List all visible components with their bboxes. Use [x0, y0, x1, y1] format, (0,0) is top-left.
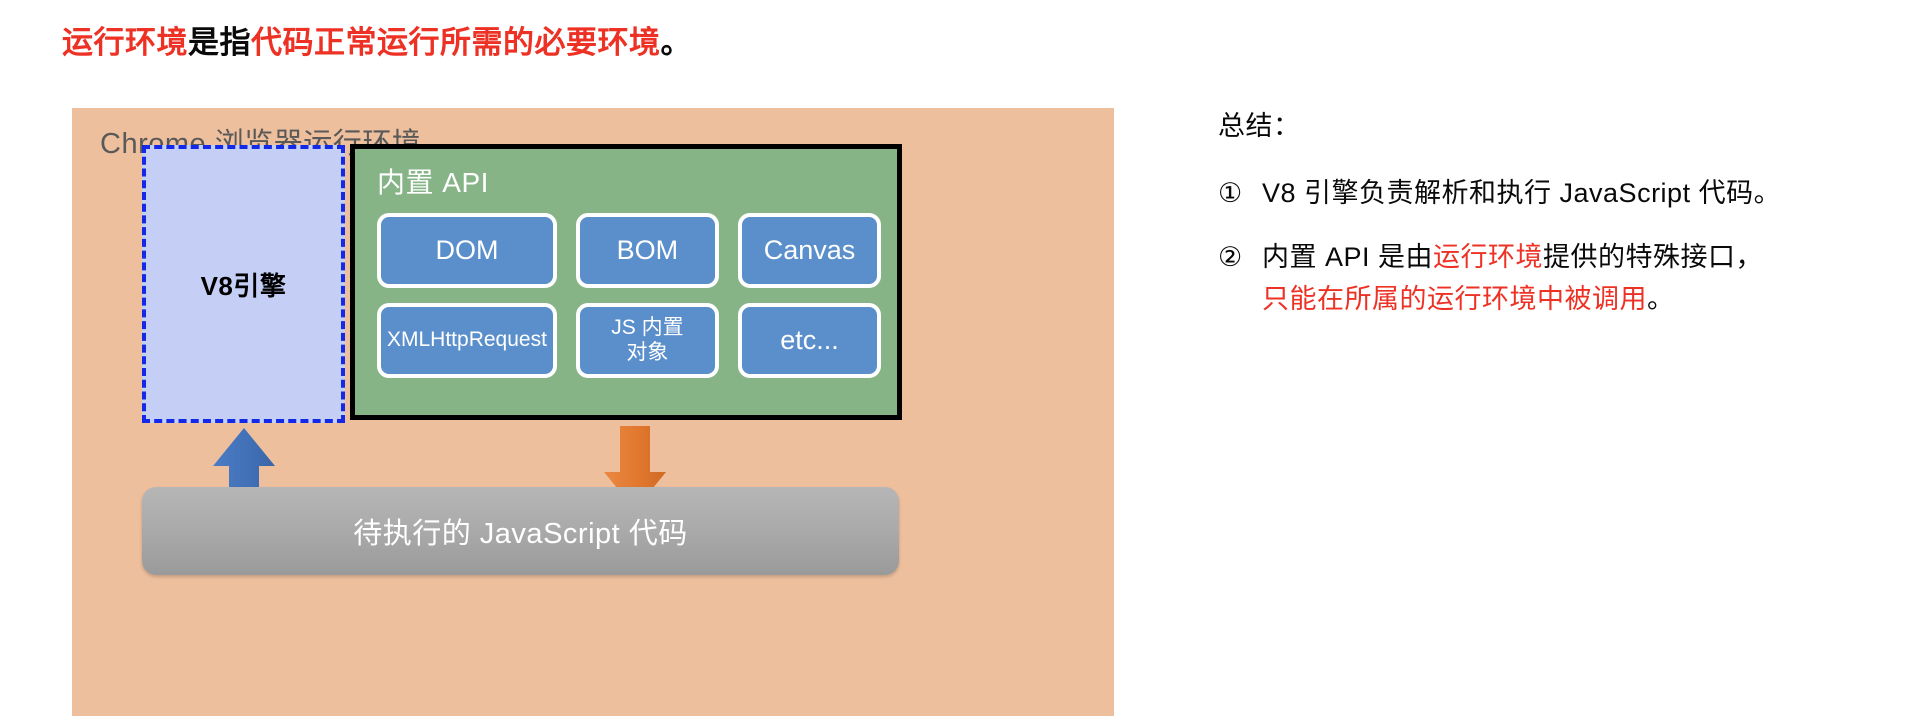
page-title-segment-3: 代码正常运行所需的必要环境 [251, 25, 661, 60]
summary-item-2: ②内置 API 是由运行环境提供的特殊接口，只能在所属的运行环境中被调用。 [1218, 237, 1898, 321]
builtin-api-chip-grid: DOM BOM Canvas XMLHttpRequest JS 内置对象 et… [377, 213, 881, 378]
summary-item-marker: ② [1218, 237, 1262, 279]
pending-js-code-bar: 待执行的 JavaScript 代码 [142, 487, 899, 575]
summary-heading: 总结： [1218, 104, 1898, 143]
pending-js-code-label: 待执行的 JavaScript 代码 [353, 510, 688, 552]
summary-text-run: 运行环境 [1433, 242, 1543, 272]
page-title-segment-1: 运行环境 [62, 25, 188, 60]
builtin-api-title: 内置 API [377, 161, 489, 201]
summary-text-run: V8 引擎负责解析和执行 JavaScript 代码。 [1262, 178, 1781, 208]
api-chip-bom: BOM [576, 213, 719, 288]
summary-text-run: 内置 API 是由 [1262, 242, 1433, 272]
summary-text-run: 。 [1647, 284, 1675, 314]
chrome-runtime-diagram: Chrome 浏览器运行环境 V8引擎 内置 API DOM BOM Canva… [72, 108, 1114, 716]
page-title-segment-4: 。 [661, 25, 693, 60]
summary-item-text: 内置 API 是由运行环境提供的特殊接口，只能在所属的运行环境中被调用。 [1262, 237, 1898, 321]
api-chip-dom: DOM [377, 213, 557, 288]
v8-engine-box: V8引擎 [142, 145, 345, 423]
summary-list: ①V8 引擎负责解析和执行 JavaScript 代码。②内置 API 是由运行… [1218, 173, 1898, 321]
summary-item-text: V8 引擎负责解析和执行 JavaScript 代码。 [1262, 173, 1898, 215]
summary-panel: 总结： ①V8 引擎负责解析和执行 JavaScript 代码。②内置 API … [1218, 104, 1898, 343]
api-chip-canvas: Canvas [738, 213, 881, 288]
summary-item-marker: ① [1218, 173, 1262, 215]
summary-text-run: 提供的特殊接口， [1543, 242, 1763, 272]
summary-item-1: ①V8 引擎负责解析和执行 JavaScript 代码。 [1218, 173, 1898, 215]
page-title-segment-2: 是指 [188, 25, 251, 60]
page-title: 运行环境是指代码正常运行所需的必要环境。 [62, 24, 692, 63]
api-chip-xmlhttprequest: XMLHttpRequest [377, 303, 557, 378]
summary-text-run: 只能在所属的运行环境中被调用 [1262, 284, 1647, 314]
api-chip-js-builtin: JS 内置对象 [576, 303, 719, 378]
v8-engine-label: V8引擎 [201, 266, 287, 303]
api-chip-etc: etc... [738, 303, 881, 378]
builtin-api-box: 内置 API DOM BOM Canvas XMLHttpRequest JS … [350, 144, 902, 420]
